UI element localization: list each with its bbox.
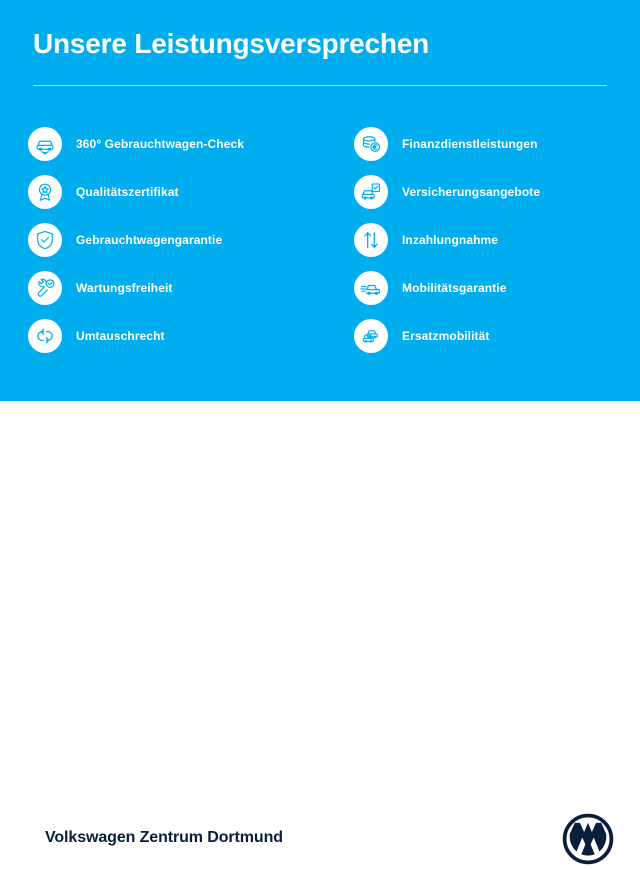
feature-item-mobilitaetsgarantie[interactable]: Mobilitätsgarantie <box>354 264 640 312</box>
feature-label: Ersatzmobilität <box>402 329 490 343</box>
features-right-column: Finanzdienstleistungen Versicheru <box>0 120 640 360</box>
feature-item-inzahlungnahme[interactable]: Inzahlungnahme <box>354 216 640 264</box>
footer-bar: Volkswagen Zentrum Dortmund <box>0 401 640 480</box>
car-speed-icon <box>354 271 388 305</box>
feature-item-ersatzmobilitaet[interactable]: Ersatzmobilität <box>354 312 640 360</box>
up-down-arrows-icon <box>354 223 388 257</box>
feature-item-versicherungsangebote[interactable]: Versicherungsangebote <box>354 168 640 216</box>
hero-panel: Unsere Leistungsversprechen <box>0 0 640 401</box>
coins-euro-icon <box>354 127 388 161</box>
feature-item-finanzdienstleistungen[interactable]: Finanzdienstleistungen <box>354 120 640 168</box>
promo-banner: Unsere Leistungsversprechen <box>0 0 640 480</box>
page-title: Unsere Leistungsversprechen <box>33 28 429 60</box>
feature-label: Mobilitätsgarantie <box>402 281 506 295</box>
two-cars-icon <box>354 319 388 353</box>
car-document-icon <box>354 175 388 209</box>
dealer-name: Volkswagen Zentrum Dortmund <box>45 829 283 847</box>
feature-label: Inzahlungnahme <box>402 233 498 247</box>
volkswagen-logo[interactable] <box>562 813 614 865</box>
feature-label: Finanzdienstleistungen <box>402 137 538 151</box>
feature-label: Versicherungsangebote <box>402 185 540 199</box>
title-divider <box>33 85 607 86</box>
features-grid: 360° Gebrauchtwagen-Check Qualitätszerti… <box>0 120 640 360</box>
